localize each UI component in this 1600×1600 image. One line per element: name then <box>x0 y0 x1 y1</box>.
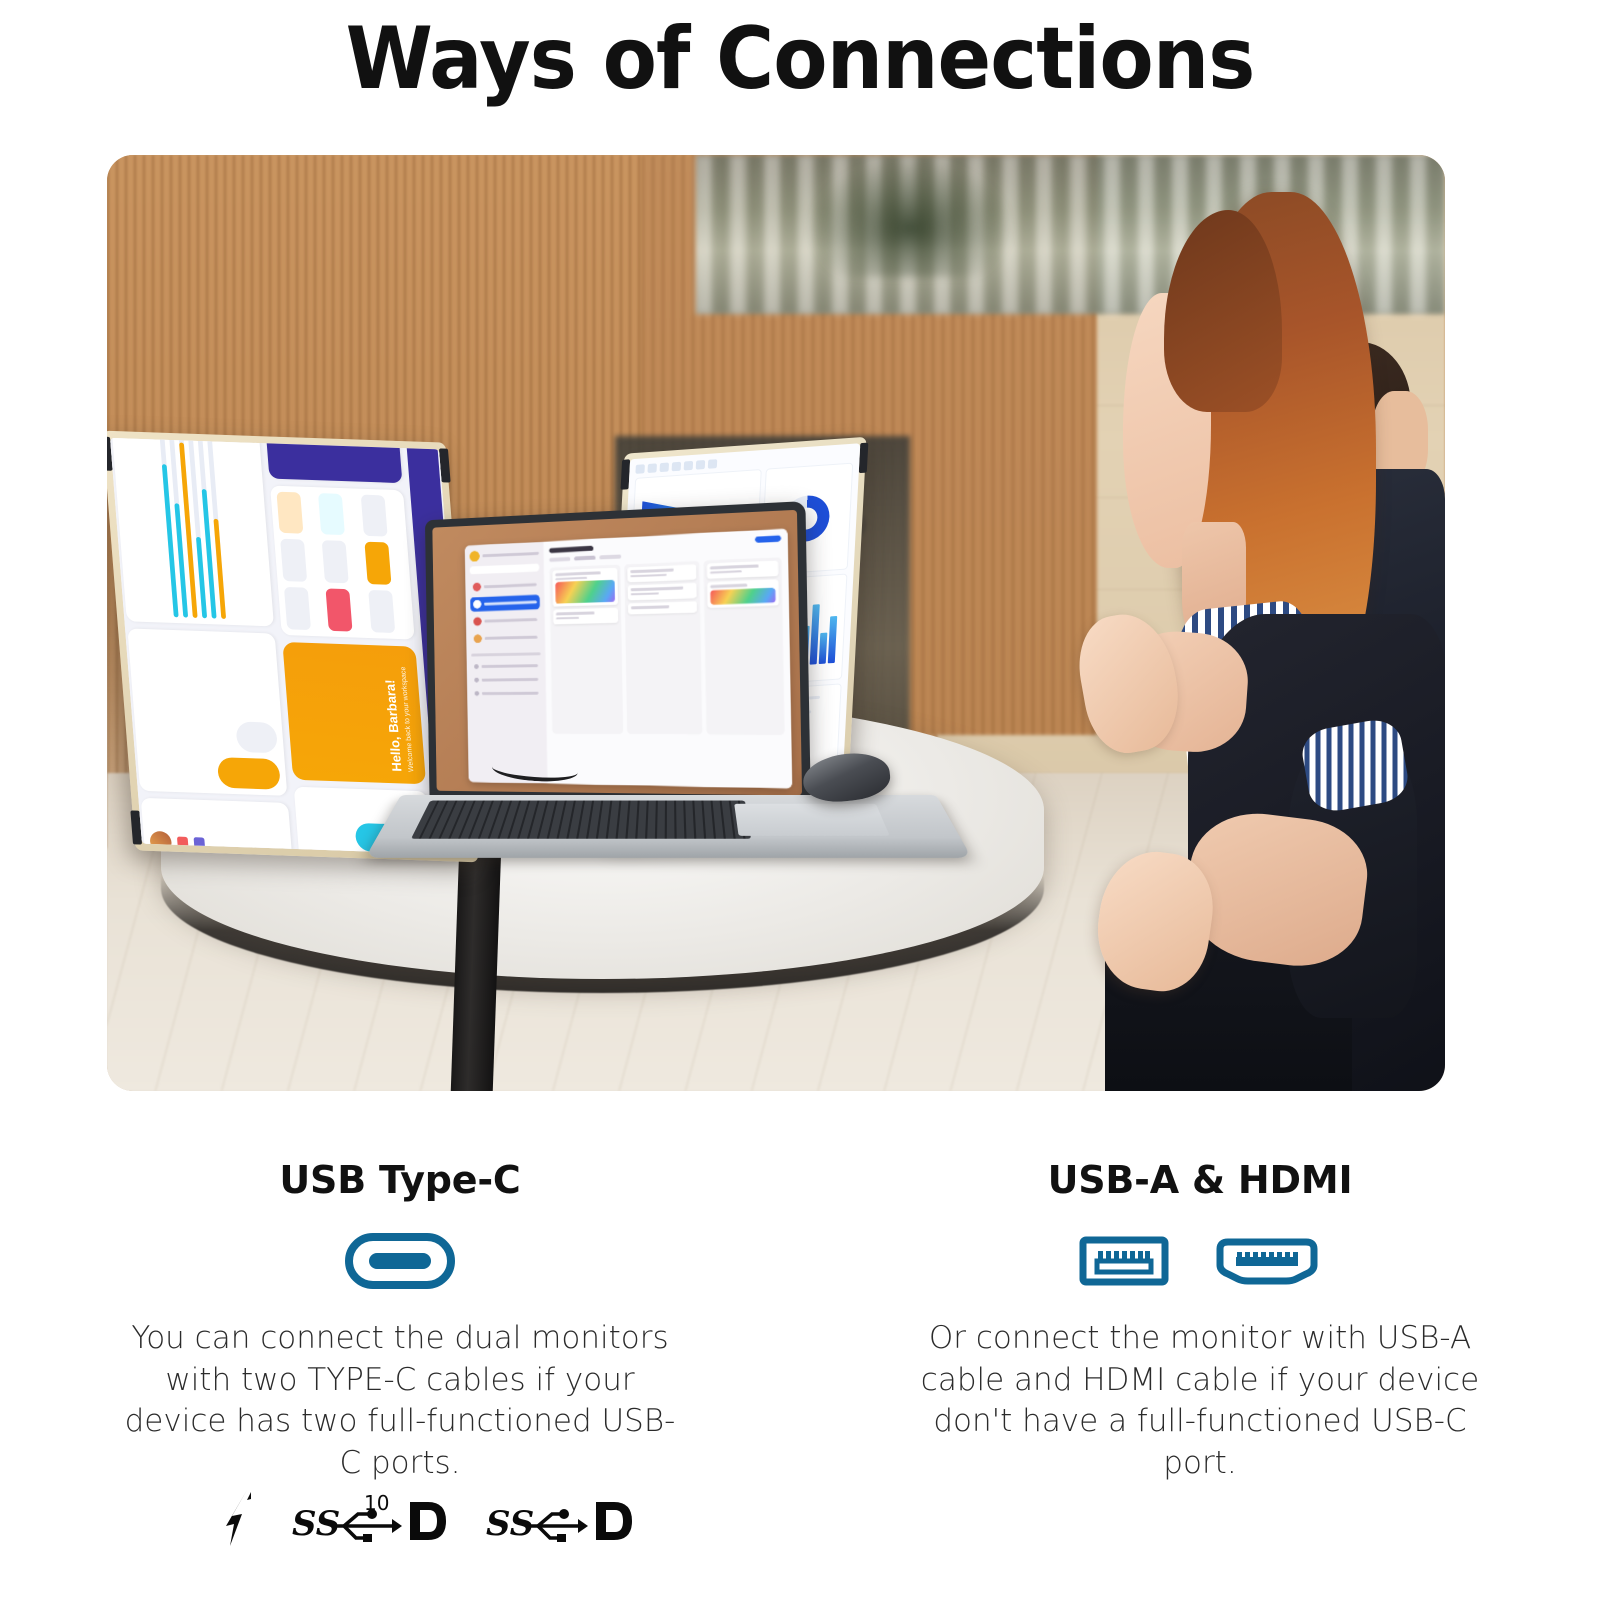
board-card[interactable] <box>628 582 697 600</box>
toolbar-icon <box>672 462 682 472</box>
board-title <box>549 545 593 552</box>
list-item[interactable] <box>471 595 540 612</box>
usb-c-port-icon <box>345 1233 455 1289</box>
hero-photo: Hello, Barbara! Welcome back to your wor… <box>107 155 1445 1091</box>
board-card[interactable] <box>707 579 779 607</box>
usb-a-hdmi-icon-row <box>1078 1218 1322 1304</box>
board-main <box>544 528 793 788</box>
toolbar-icon <box>660 463 670 473</box>
page-title: Ways of Connections <box>64 6 1536 114</box>
superspeed-usb-displayport-icon: SS <box>486 1488 636 1550</box>
primary-button[interactable] <box>756 535 782 543</box>
laptop <box>401 511 936 885</box>
bangs <box>1164 210 1282 412</box>
svg-text:SS: SS <box>292 1504 340 1544</box>
board-card[interactable] <box>628 564 697 582</box>
laptop-keyboard[interactable] <box>412 801 751 839</box>
board-card[interactable] <box>553 608 619 625</box>
usb-type-c-icon-row <box>345 1218 455 1304</box>
board-card[interactable] <box>707 560 779 579</box>
svg-text:SS: SS <box>486 1504 534 1544</box>
board-sidebar <box>466 541 548 783</box>
usb-type-c-description: You can connect the dual monitors with t… <box>120 1318 680 1484</box>
board-column <box>550 564 624 733</box>
laptop-screen <box>433 509 803 795</box>
usb-type-c-title: USB Type-C <box>279 1158 520 1202</box>
usb-a-port-icon <box>1078 1233 1170 1289</box>
search-input[interactable] <box>470 563 539 574</box>
toolbar-icon <box>708 459 718 469</box>
board-column <box>625 561 703 734</box>
usb-a-hdmi-description: Or connect the monitor with USB-A cable … <box>920 1318 1480 1484</box>
toolbar-icon <box>696 460 706 470</box>
column-usb-a-hdmi: USB-A & HDMI <box>800 1140 1600 1600</box>
board-app-window <box>466 528 793 788</box>
laptop-lid <box>425 501 811 806</box>
hero-scene: Hello, Barbara! Welcome back to your wor… <box>107 155 1445 1091</box>
board-card[interactable] <box>553 568 619 607</box>
toolbar-icon <box>684 461 694 471</box>
toolbar-icon <box>648 464 658 474</box>
superspeed-usb-10gbps-displayport-icon: SS 10 <box>292 1488 452 1550</box>
certification-logo-row: SS 10 SS <box>150 1488 710 1550</box>
person-using-monitors <box>870 174 1445 1091</box>
laptop-trackpad[interactable] <box>734 804 890 836</box>
avatar <box>149 830 172 852</box>
avatar <box>470 551 480 562</box>
usb-a-hdmi-title: USB-A & HDMI <box>1048 1158 1353 1202</box>
board-card[interactable] <box>629 601 698 614</box>
board-column <box>704 557 785 735</box>
toolbar-icon <box>636 464 646 474</box>
power-delivery-bolt-icon <box>224 1488 258 1550</box>
hdmi-port-icon <box>1212 1233 1322 1289</box>
